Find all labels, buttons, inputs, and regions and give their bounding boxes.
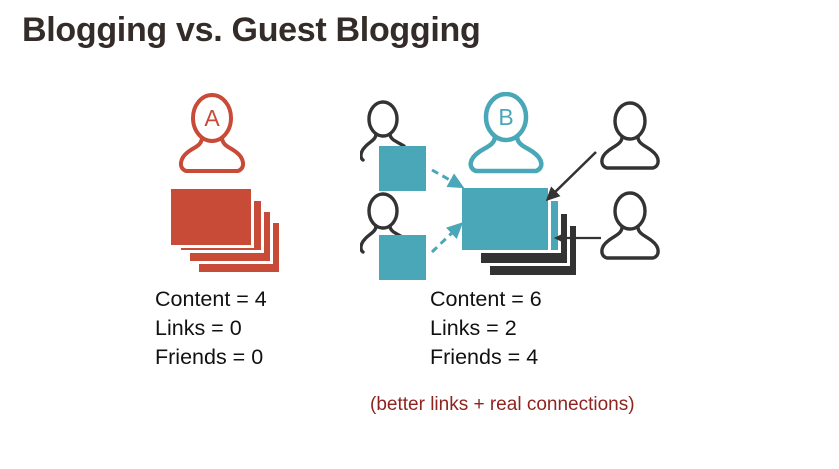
right-stats: Content = 6 Links = 2 Friends = 4 [430, 285, 542, 372]
person-b-icon: B [465, 92, 547, 174]
right-content-stack [459, 185, 589, 280]
left-stats: Content = 4 Links = 0 Friends = 0 [155, 285, 267, 372]
stack-layer-teal [459, 185, 551, 253]
left-content-stack [168, 186, 283, 276]
right-stat-content: Content = 6 [430, 285, 542, 314]
dashed-arrow-top-left [432, 170, 457, 184]
contributor-bottom-right-icon [598, 190, 662, 262]
caption-note: (better links + real connections) [370, 394, 635, 416]
page-title: Blogging vs. Guest Blogging [22, 11, 480, 50]
person-icon [598, 100, 662, 172]
contributor-top-left-square [379, 146, 426, 191]
left-stat-content: Content = 4 [155, 285, 267, 314]
dashed-arrow-bottom-left [432, 228, 457, 252]
left-stat-links: Links = 0 [155, 314, 267, 343]
right-stat-links: Links = 2 [430, 314, 542, 343]
stack-layer [168, 186, 254, 248]
person-icon [598, 190, 662, 262]
person-a-icon: A [176, 92, 248, 174]
person-b-label: B [498, 104, 513, 130]
contributor-bottom-left-square [379, 235, 426, 280]
person-icon: B [465, 92, 547, 174]
left-stat-friends: Friends = 0 [155, 343, 267, 372]
person-icon: A [176, 92, 248, 174]
slide-canvas: Blogging vs. Guest Blogging A Content = … [0, 0, 839, 469]
contributor-top-right-icon [598, 100, 662, 172]
right-stat-friends: Friends = 4 [430, 343, 542, 372]
person-a-label: A [204, 105, 220, 131]
